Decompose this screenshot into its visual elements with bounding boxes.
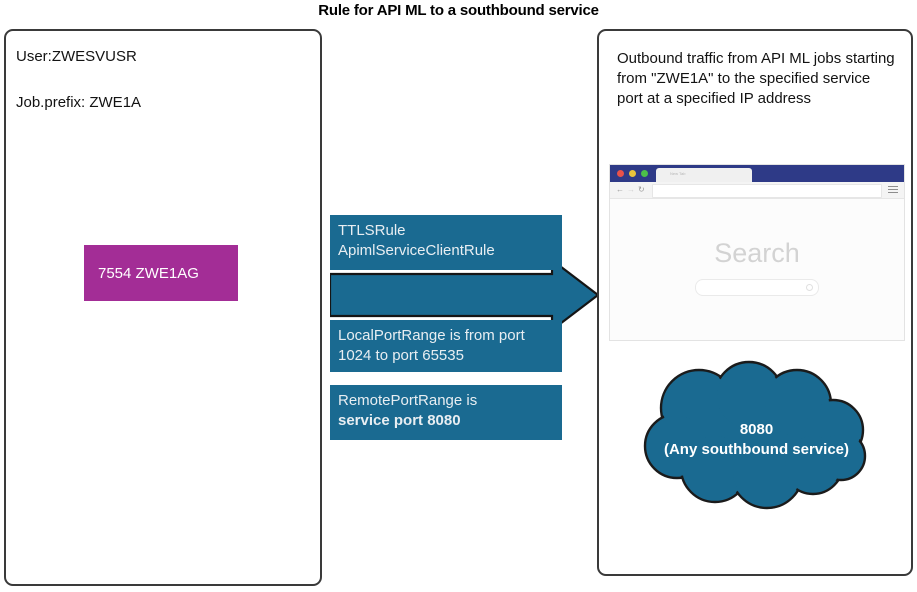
search-field-dot-icon	[806, 284, 813, 291]
job-box-label: 7554 ZWE1AG	[98, 265, 199, 282]
reload-icon[interactable]: ↻	[638, 185, 645, 195]
remote-port-range-box: RemotePortRange is service port 8080	[330, 385, 562, 440]
local-port-range-box: LocalPortRange is from port 1024 to port…	[330, 320, 562, 372]
ttls-rule-box: TTLSRule ApimlServiceClientRule	[330, 215, 562, 270]
local-port-range-line-2: 1024 to port 65535	[338, 346, 552, 366]
ttls-rule-line-1: TTLSRule	[338, 221, 552, 241]
window-close-dot-icon[interactable]	[617, 170, 624, 177]
back-arrow-icon[interactable]: ←	[616, 185, 624, 195]
window-zoom-dot-icon[interactable]	[641, 170, 648, 177]
southbound-service-cloud-icon	[641, 360, 872, 512]
search-heading: Search	[610, 238, 904, 269]
browser-tab-label: New Tab	[670, 171, 686, 176]
search-input[interactable]	[695, 279, 819, 296]
browser-tab[interactable]: New Tab	[656, 168, 752, 182]
window-minimize-dot-icon[interactable]	[629, 170, 636, 177]
ttls-rule-line-2: ApimlServiceClientRule	[338, 241, 552, 261]
browser-mockup: New Tab ← → ↻ Search	[609, 164, 905, 341]
left-panel-zowe-address-space: User:ZWESVUSR Job.prefix: ZWE1A 7554 ZWE…	[4, 29, 322, 586]
local-port-range-line-1: LocalPortRange is from port	[338, 326, 552, 346]
browser-content-area: Search	[610, 199, 904, 341]
forward-arrow-icon[interactable]: →	[627, 185, 635, 195]
hamburger-menu-icon[interactable]	[888, 186, 898, 194]
remote-port-range-line-2: service port 8080	[338, 411, 552, 431]
outbound-traffic-description: Outbound traffic from API ML jobs starti…	[617, 49, 899, 108]
url-input[interactable]	[652, 184, 882, 198]
job-prefix-label: Job.prefix: ZWE1A	[16, 94, 141, 111]
right-panel-southbound-service: Outbound traffic from API ML jobs starti…	[597, 29, 913, 576]
page-title: Rule for API ML to a southbound service	[0, 2, 917, 19]
remote-port-range-line-1: RemotePortRange is	[338, 391, 552, 411]
browser-titlebar: New Tab	[610, 165, 904, 182]
job-box: 7554 ZWE1AG	[84, 245, 238, 301]
user-label: User:ZWESVUSR	[16, 48, 137, 65]
browser-toolbar: ← → ↻	[610, 182, 904, 199]
